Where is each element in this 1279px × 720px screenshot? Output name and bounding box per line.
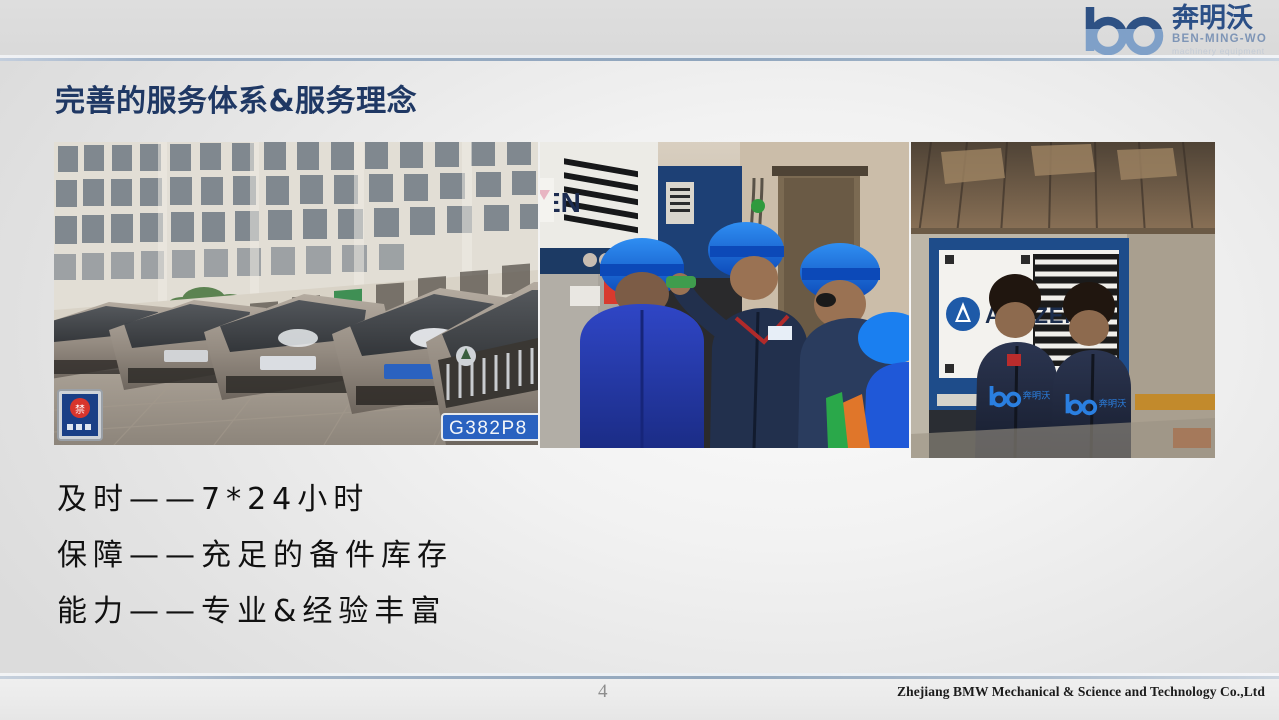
slide: 奔明沃 BEN-MING-WO machinery equipment 完善的服… [0,0,1279,720]
svg-text:G382P8: G382P8 [449,418,528,439]
photo-aerzen-blower-inspection: AERZEN [911,142,1215,458]
svg-text:奔明沃: 奔明沃 [1023,390,1051,402]
page-title: 完善的服务体系&服务理念 [55,76,417,120]
photo-strip: G382P8 禁 [54,142,1215,462]
bo-monogram-icon [1082,5,1168,55]
header-divider [0,58,1279,61]
bullet-line-1: 及时——7*24小时 [57,472,777,528]
logo-wordmark: 奔明沃 BEN-MING-WO machinery equipment [1172,5,1267,55]
bullet-line-2: 保障——充足的备件库存 [57,528,777,584]
bullet-line-3: 能力——专业&经验丰富 [57,584,777,640]
photo-on-site-maintenance-team: EN [540,142,909,448]
svg-text:禁: 禁 [75,404,85,416]
logo-chinese-name: 奔明沃 [1172,5,1267,32]
logo-romanized-name: BEN-MING-WO [1172,33,1267,46]
photo-service-fleet-cars: G382P8 禁 [54,142,538,445]
logo-tagline: machinery equipment [1172,46,1267,56]
svg-text:奔明沃: 奔明沃 [1099,398,1127,410]
footer-company-name: Zhejiang BMW Mechanical & Science and Te… [897,684,1265,700]
bullet-lines: 及时——7*24小时 保障——充足的备件库存 能力——专业&经验丰富 [57,472,777,640]
page-number: 4 [598,681,608,703]
company-logo: 奔明沃 BEN-MING-WO machinery equipment [1082,4,1267,56]
